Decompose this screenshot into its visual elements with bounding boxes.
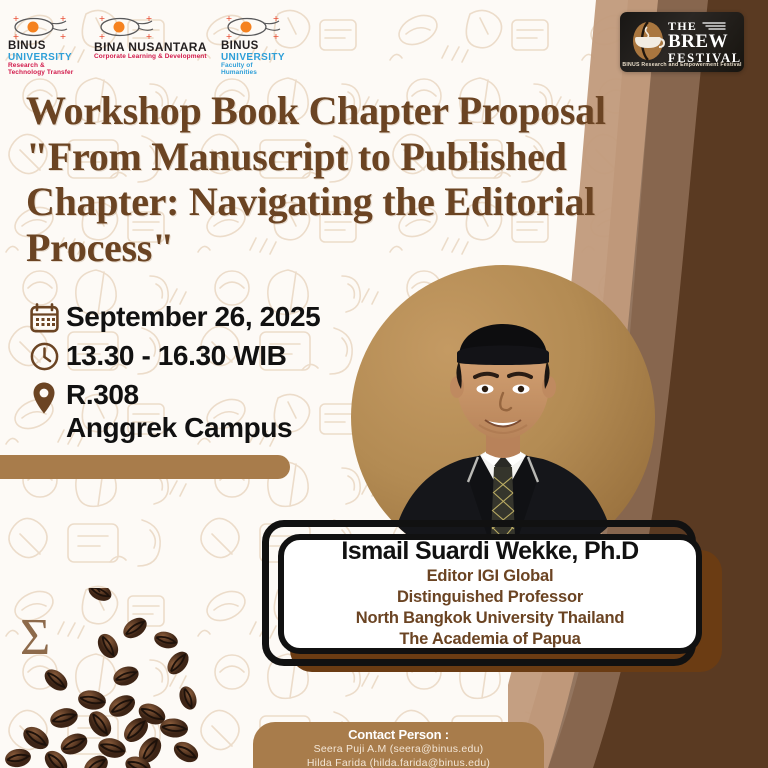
event-location-row: R.308 Anggrek Campus <box>22 378 320 444</box>
event-location-text: R.308 Anggrek Campus <box>66 378 292 444</box>
coffee-cup-bean-icon <box>630 21 666 61</box>
title-line-2: "From Manuscript to Published <box>26 134 666 180</box>
event-room: R.308 <box>66 378 292 411</box>
logo-binus-humanities: BINUS UNIVERSITY Faculty of Humanities <box>221 14 291 76</box>
speaker-card: Ismail Suardi Wekke, Ph.D Editor IGI Glo… <box>262 520 722 670</box>
contact-person-2: Hilda Farida (hilda.farida@binus.edu) <box>253 756 544 768</box>
speaker-credential-4: The Academia of Papua <box>399 629 580 650</box>
event-date-row: September 26, 2025 <box>22 300 320 333</box>
logo-line-3: Corporate Learning & Development <box>94 54 207 61</box>
tan-accent-bar <box>0 455 290 479</box>
title-line-4: Process" <box>26 225 666 271</box>
poster-title: Workshop Book Chapter Proposal "From Man… <box>26 88 666 270</box>
event-date-text: September 26, 2025 <box>66 300 320 333</box>
binus-eye-icon <box>94 14 164 40</box>
speaker-name: Ismail Suardi Wekke, Ph.D <box>341 538 638 566</box>
calendar-icon <box>22 300 66 333</box>
speaker-credential-3: North Bangkok University Thailand <box>356 608 624 629</box>
poster-root: BINUS UNIVERSITY Research & Technology T… <box>0 0 768 768</box>
location-pin-icon <box>22 378 66 415</box>
logo-line-1: BINUS <box>221 41 285 53</box>
logo-binus-research: BINUS UNIVERSITY Research & Technology T… <box>8 14 78 76</box>
logo-line-3b: Humanities <box>221 70 285 77</box>
brew-main-text: BREW <box>668 32 742 52</box>
event-time-row: 13.30 - 16.30 WIB <box>22 339 320 372</box>
binus-eye-icon <box>221 14 291 40</box>
coffee-beans-illustration <box>0 588 216 768</box>
event-details: September 26, 2025 13.30 - 16.30 WIB R <box>22 300 320 450</box>
partner-logos: BINUS UNIVERSITY Research & Technology T… <box>8 14 291 76</box>
binus-eye-icon <box>8 14 78 40</box>
title-line-1: Workshop Book Chapter Proposal <box>26 88 666 134</box>
brew-subtitle: BINUS Research and Empowerment Festival <box>620 62 744 68</box>
event-campus: Anggrek Campus <box>66 411 292 444</box>
logo-line-1: BINA NUSANTARA <box>94 41 207 53</box>
clock-icon <box>22 339 66 371</box>
speaker-card-body: Ismail Suardi Wekke, Ph.D Editor IGI Glo… <box>278 534 702 654</box>
contact-banner: Contact Person : Seera Puji A.M (seera@b… <box>253 722 544 768</box>
logo-bina-nusantara-cld: BINA NUSANTARA Corporate Learning & Deve… <box>94 14 207 61</box>
steam-lines-icon <box>701 21 727 31</box>
title-line-3: Chapter: Navigating the Editorial <box>26 179 666 225</box>
speaker-credential-1: Editor IGI Global <box>427 566 554 587</box>
logo-line-3b: Technology Transfer <box>8 70 73 77</box>
brew-festival-logo: THE BREW FESTIVAL BINUS Research and Emp… <box>620 12 744 72</box>
speaker-credential-2: Distinguished Professor <box>397 587 583 608</box>
contact-title: Contact Person : <box>253 727 544 742</box>
contact-person-1: Seera Puji A.M (seera@binus.edu) <box>253 742 544 756</box>
logo-line-1: BINUS <box>8 41 73 53</box>
event-time-text: 13.30 - 16.30 WIB <box>66 339 286 372</box>
